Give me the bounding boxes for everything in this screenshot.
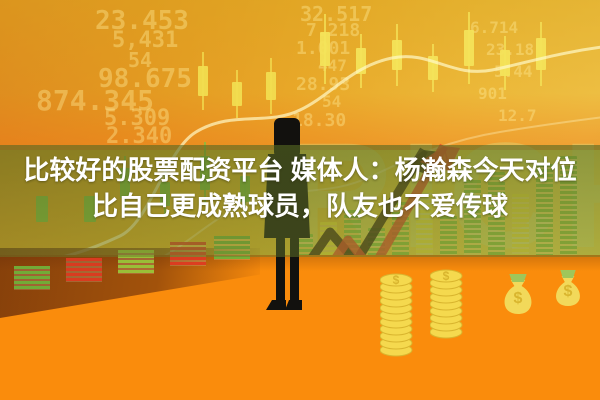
svg-text:$: $ xyxy=(393,273,400,287)
money-bag: $ xyxy=(500,272,536,329)
news-banner: RICH 23.4535,4315498.675874.3455.3092.34… xyxy=(0,0,600,400)
svg-text:$: $ xyxy=(514,290,523,307)
headline: 比较好的股票配资平台 媒体人：杨瀚森今天对位 比自己更成熟球员，队友也不爱传球 xyxy=(0,152,600,224)
coin-stack: $ xyxy=(430,266,468,348)
svg-text:$: $ xyxy=(564,283,573,300)
svg-text:$: $ xyxy=(443,269,450,283)
headline-line-1: 比较好的股票配资平台 媒体人：杨瀚森今天对位 xyxy=(23,155,576,185)
headline-line-2: 比自己更成熟球员，队友也不爱传球 xyxy=(0,188,600,224)
money-bag: $ xyxy=(552,268,584,321)
coin-stack: $ xyxy=(380,270,418,366)
